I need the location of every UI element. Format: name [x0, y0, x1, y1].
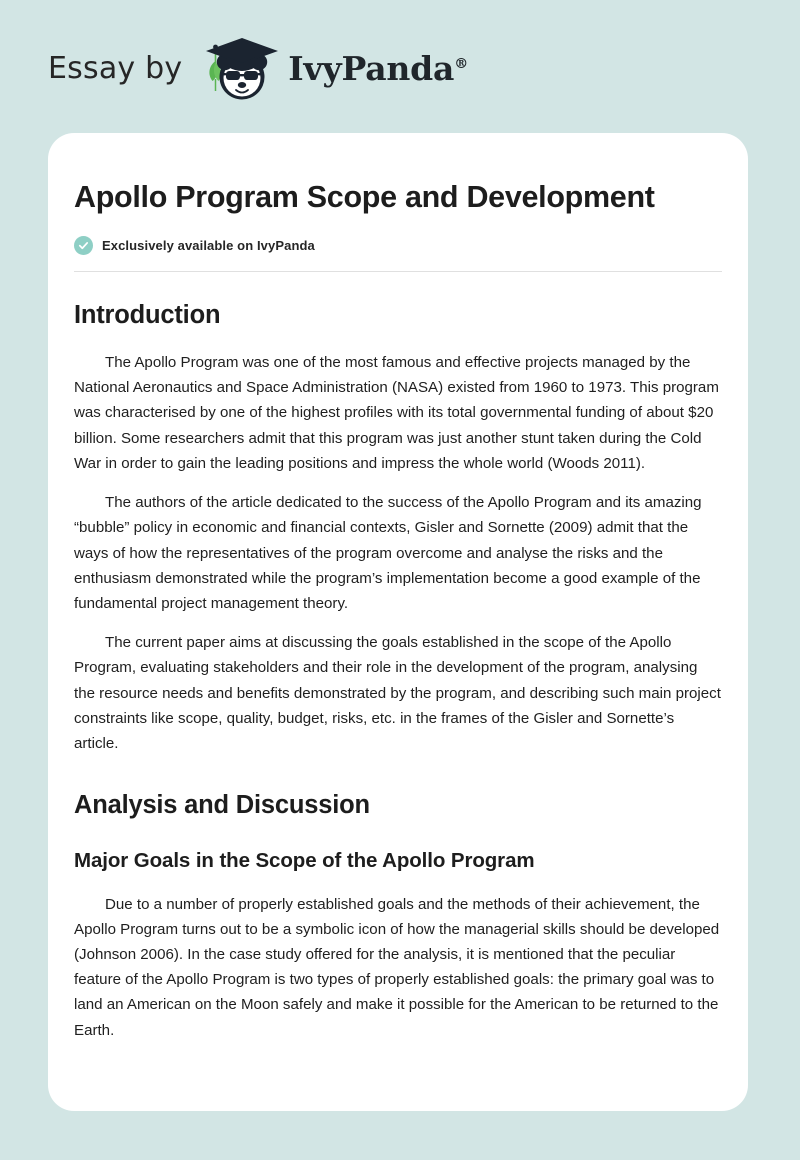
essay-content: Apollo Program Scope and Development Exc…	[74, 179, 722, 1043]
subsection-heading-major-goals: Major Goals in the Scope of the Apollo P…	[74, 848, 722, 874]
essay-by-label: Essay by	[48, 54, 182, 84]
page-title: Apollo Program Scope and Development	[74, 179, 722, 216]
check-circle-icon	[74, 236, 93, 255]
site-header: Essay by	[0, 0, 800, 133]
exclusivity-label: Exclusively available on IvyPanda	[102, 239, 315, 252]
brand-name: IvyPanda®	[288, 52, 468, 85]
paragraph: The authors of the article dedicated to …	[74, 490, 722, 616]
section-heading-analysis-and-discussion: Analysis and Discussion	[74, 790, 722, 822]
brand-lockup[interactable]: Essay by	[48, 33, 468, 105]
registered-trademark-icon: ®	[454, 56, 468, 72]
panda-graduate-logo-icon	[195, 33, 281, 105]
header-divider	[74, 271, 722, 272]
paragraph: The Apollo Program was one of the most f…	[74, 350, 722, 476]
paragraph: Due to a number of properly established …	[74, 892, 722, 1043]
paragraph: The current paper aims at discussing the…	[74, 630, 722, 756]
section-heading-introduction: Introduction	[74, 300, 722, 332]
essay-card: Apollo Program Scope and Development Exc…	[48, 133, 748, 1111]
exclusivity-badge: Exclusively available on IvyPanda	[74, 236, 722, 255]
brand-name-text: IvyPanda	[288, 49, 454, 88]
